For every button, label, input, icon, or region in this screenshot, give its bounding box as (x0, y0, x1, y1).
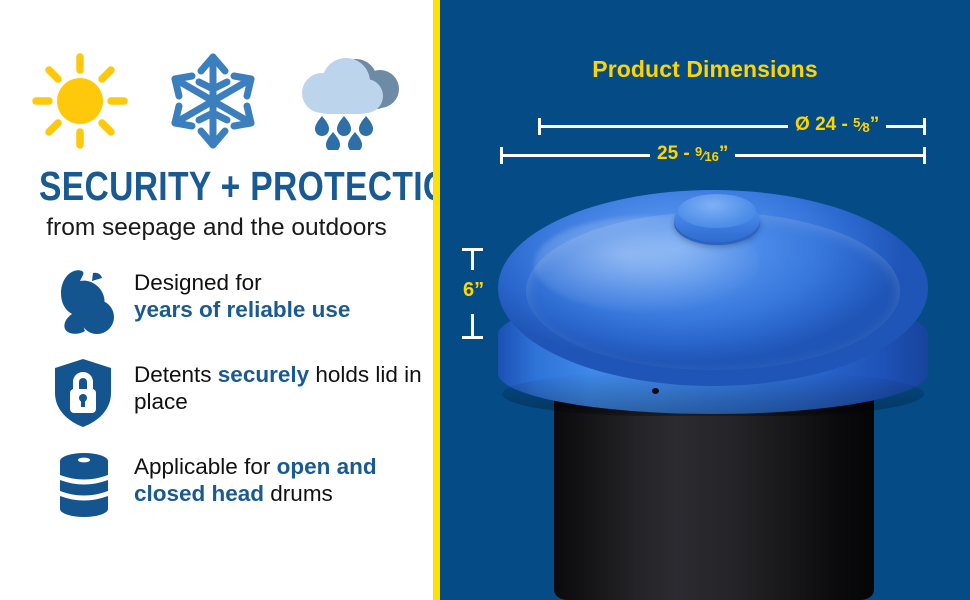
dimension-stem-bottom (471, 314, 474, 337)
feature-icon-slot (52, 447, 134, 521)
diameter-whole: 24 (815, 114, 836, 135)
dimension-stem-top (471, 248, 474, 270)
dimension-diameter: Ø 24 - 5⁄8” (538, 116, 926, 136)
width-separator: - (683, 143, 689, 164)
dimension-cap-left (500, 147, 503, 164)
feature-text: Applicable for open and closed head drum… (134, 447, 433, 508)
dimension-height: 6” (458, 248, 494, 340)
yellow-divider (433, 0, 440, 600)
feature-text-bold: securely (218, 362, 309, 387)
diameter-fraction-numerator: 5 (853, 115, 860, 130)
lid-vent-hole (652, 388, 659, 394)
dimension-tick-bottom (462, 336, 483, 339)
width-whole: 25 (657, 143, 678, 164)
weather-icon-row (0, 48, 433, 153)
diameter-fraction: 5⁄8 (853, 116, 870, 134)
list-item: Applicable for open and closed head drum… (52, 447, 433, 525)
feature-text-end: drums (264, 481, 333, 506)
dimension-overall-width: 25 - 9⁄16” (500, 145, 926, 165)
flexed-bicep-icon (52, 265, 118, 335)
feature-icon-slot (52, 355, 134, 429)
right-panel: Product Dimensions Ø 24 - 5⁄8” (440, 0, 970, 600)
product-infographic: SECURITY + PROTECTION from seepage and t… (0, 0, 970, 600)
height-unit: ” (474, 279, 484, 301)
feature-list: Designed for years of reliable use (52, 263, 433, 539)
page-title: SECURITY + PROTECTION (39, 166, 394, 207)
feature-text-start: Applicable for (134, 454, 277, 479)
feature-icon-slot (52, 263, 134, 335)
dimension-label-height: 6” (463, 280, 484, 300)
panel-title: Product Dimensions (440, 56, 970, 83)
page-subtitle: from seepage and the outdoors (0, 216, 433, 241)
dimension-cap-left (538, 118, 541, 135)
feature-line-2: years of reliable use (134, 297, 350, 322)
sun-icon (28, 49, 132, 153)
feature-text: Designed for years of reliable use (134, 263, 433, 324)
drum-icon (52, 449, 116, 521)
width-fraction-denominator: 16 (704, 149, 718, 164)
shield-lock-icon (52, 357, 114, 429)
height-value: 6 (463, 279, 474, 301)
product-photo (482, 176, 944, 600)
left-panel: SECURITY + PROTECTION from seepage and t… (0, 0, 433, 600)
feature-text: Detents securely holds lid in place (134, 355, 433, 416)
snowflake-icon (166, 51, 260, 151)
diameter-separator: - (841, 114, 847, 135)
dimension-cap-right (923, 118, 926, 135)
width-fraction-numerator: 9 (695, 144, 702, 159)
diameter-symbol: Ø (795, 114, 810, 135)
dimension-label-overall-width: 25 - 9⁄16” (650, 143, 735, 165)
lid-knob-top (678, 194, 756, 228)
width-fraction: 9⁄16 (695, 145, 719, 163)
list-item: Detents securely holds lid in place (52, 355, 433, 433)
feature-line-1: Designed for (134, 270, 262, 295)
diameter-fraction-denominator: 8 (863, 120, 870, 135)
dimension-cap-right (923, 147, 926, 164)
dimension-label-diameter: Ø 24 - 5⁄8” (788, 114, 886, 136)
diameter-unit: ” (870, 114, 880, 135)
rain-cloud-icon (294, 52, 406, 150)
feature-text-start: Detents (134, 362, 218, 387)
width-unit: ” (719, 143, 729, 164)
list-item: Designed for years of reliable use (52, 263, 433, 341)
